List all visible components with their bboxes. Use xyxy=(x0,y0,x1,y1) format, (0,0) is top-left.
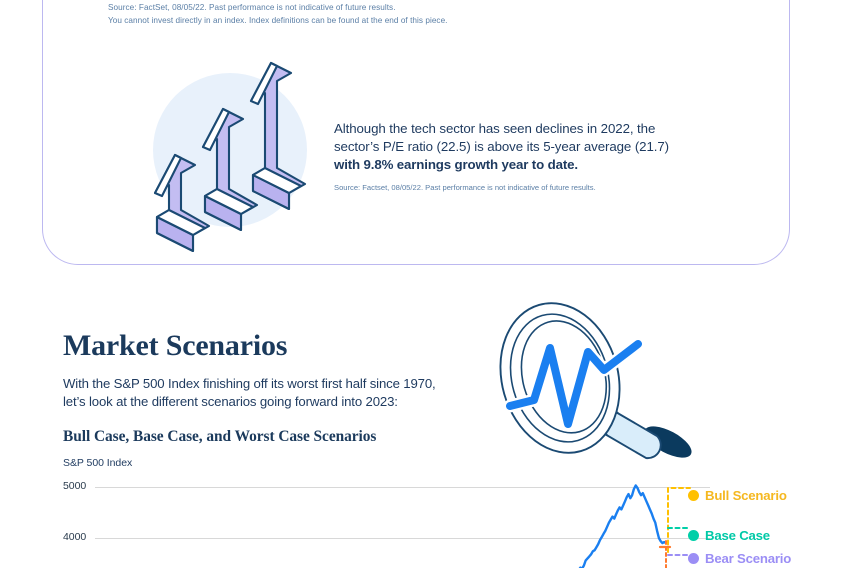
base-legend-dot-icon xyxy=(688,530,699,541)
tech-line-2: sector’s P/E ratio (22.5) is above its 5… xyxy=(334,138,666,156)
source-line-2: You cannot invest directly in an index. … xyxy=(108,15,668,28)
intro-line-1: With the S&P 500 Index finishing off its… xyxy=(63,375,463,393)
tech-sector-text-block: Although the tech sector has seen declin… xyxy=(334,120,666,193)
legend-item-base-case[interactable]: Base Case xyxy=(688,528,770,543)
legend-label-base: Base Case xyxy=(705,528,770,543)
legend-item-bear-scenario[interactable]: Bear Scenario xyxy=(688,551,791,566)
scenarios-subheading: Bull Case, Base Case, and Worst Case Sce… xyxy=(63,428,376,446)
bull-projection-connector xyxy=(668,488,690,552)
tech-line-1: Although the tech sector has seen declin… xyxy=(334,120,666,138)
sp500-history-line xyxy=(575,486,666,568)
market-intro-paragraph: With the S&P 500 Index finishing off its… xyxy=(63,375,463,410)
bull-legend-dot-icon xyxy=(688,490,699,501)
legend-item-bull-scenario[interactable]: Bull Scenario xyxy=(688,488,787,503)
magnifying-glass-with-line-chart-illustration xyxy=(472,296,704,472)
intro-line-2: let’s look at the different scenarios go… xyxy=(63,393,463,411)
ascending-3d-arrows-illustration xyxy=(135,55,330,255)
legend-label-bear: Bear Scenario xyxy=(705,551,791,566)
source-line-1: Source: FactSet, 08/05/22. Past performa… xyxy=(108,2,668,15)
legend-label-bull: Bull Scenario xyxy=(705,488,787,503)
bear-legend-dot-icon xyxy=(688,553,699,564)
page-title: Market Scenarios xyxy=(63,329,287,363)
tech-source-note: Source: Factset, 08/05/22. Past performa… xyxy=(334,182,666,193)
tech-line-3-bold: with 9.8% earnings growth year to date. xyxy=(334,156,666,174)
top-card-source-block: Source: FactSet, 08/05/22. Past performa… xyxy=(108,2,668,27)
